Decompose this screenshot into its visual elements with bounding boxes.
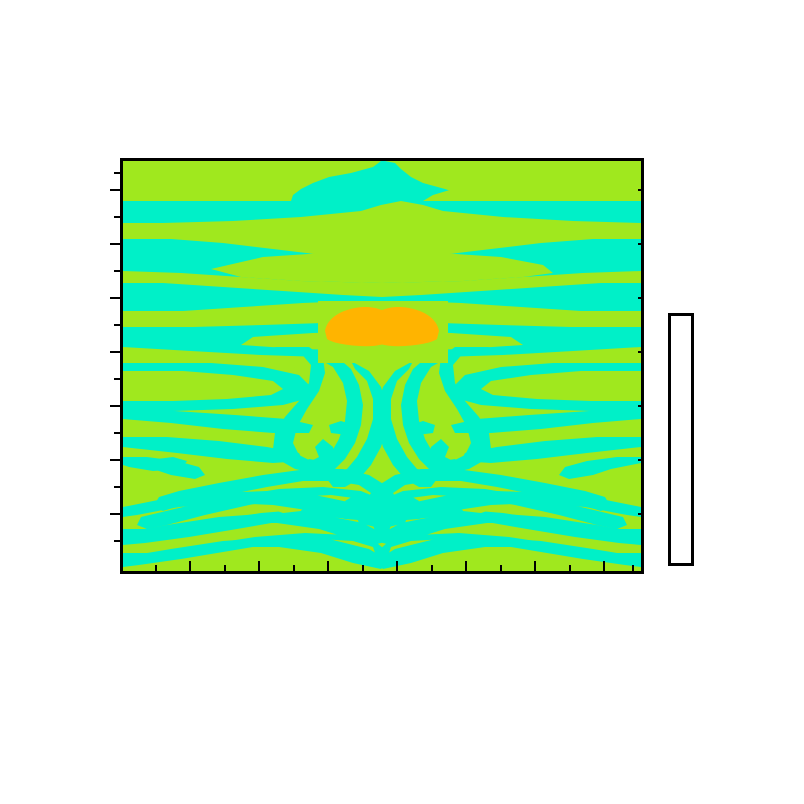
x-tick-major	[603, 561, 605, 571]
y-tick-minor	[114, 432, 120, 434]
y-tick-minor	[114, 324, 120, 326]
y-tick-major	[110, 297, 120, 299]
colorbar[interactable]	[668, 313, 694, 566]
y-tick-right	[638, 297, 644, 299]
y-tick-major	[110, 405, 120, 407]
y-tick-major	[110, 351, 120, 353]
y-tick-major	[110, 243, 120, 245]
x-tick-minor	[293, 565, 295, 571]
y-tick-right	[638, 189, 644, 191]
y-tick-minor	[114, 216, 120, 218]
x-tick-major	[534, 561, 536, 571]
y-tick-major	[110, 513, 120, 515]
x-tick-major	[258, 561, 260, 571]
x-tick-minor	[362, 565, 364, 571]
x-tick-major	[327, 561, 329, 571]
y-tick-minor	[114, 172, 120, 174]
x-tick-major	[396, 561, 398, 571]
contour-field	[123, 161, 641, 571]
x-tick-major	[465, 561, 467, 571]
x-tick-minor	[155, 565, 157, 571]
figure-canvas	[0, 0, 804, 804]
x-tick-minor	[632, 565, 634, 571]
y-tick-minor	[114, 270, 120, 272]
x-tick-minor	[224, 565, 226, 571]
y-tick-right	[638, 513, 644, 515]
x-tick-major	[189, 561, 191, 571]
y-tick-major	[110, 189, 120, 191]
x-tick-minor	[431, 565, 433, 571]
y-tick-right	[638, 351, 644, 353]
x-tick-minor	[500, 565, 502, 571]
y-tick-major	[110, 459, 120, 461]
y-tick-right	[638, 459, 644, 461]
y-tick-minor	[114, 378, 120, 380]
y-tick-minor	[114, 540, 120, 542]
y-tick-minor	[114, 486, 120, 488]
x-tick-minor	[569, 565, 571, 571]
y-tick-right	[638, 243, 644, 245]
plot-area[interactable]	[120, 158, 644, 574]
y-tick-right	[638, 405, 644, 407]
